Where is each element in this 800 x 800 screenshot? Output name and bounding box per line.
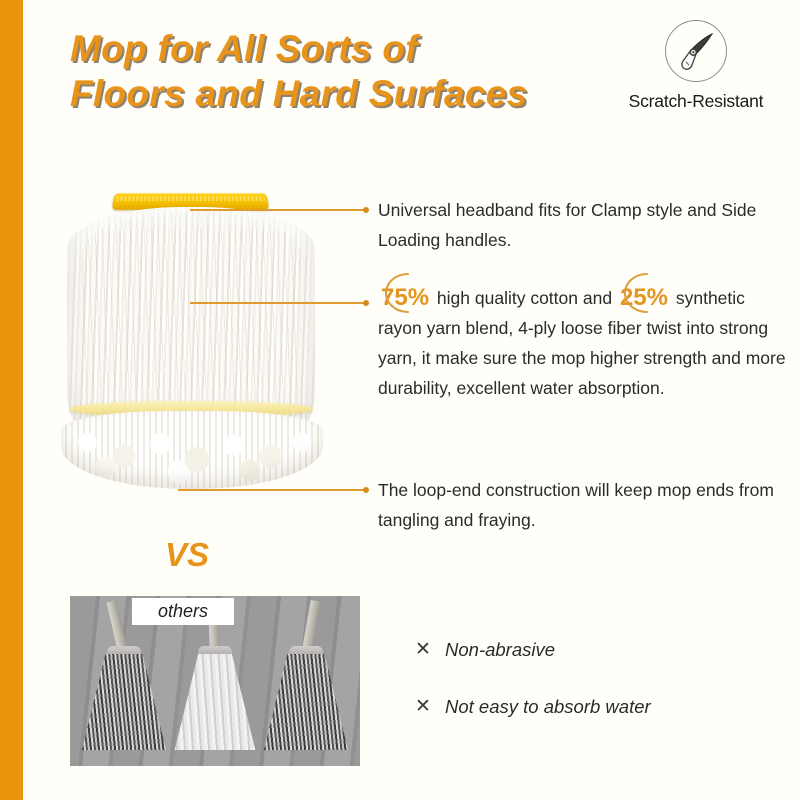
- product-image-mop-head: [45, 183, 355, 508]
- mop-head: [82, 654, 166, 750]
- feature-headband-text: Universal headband fits for Clamp style …: [378, 200, 756, 250]
- mop-loop-ends: [61, 411, 323, 489]
- title-line-1: Mop for All Sorts of: [70, 26, 590, 71]
- cross-icon: ✕: [415, 638, 445, 661]
- leader-line-headband: [190, 209, 366, 211]
- leader-line-loop-end: [178, 489, 366, 491]
- badge-label: Scratch-Resistant: [600, 91, 792, 112]
- competitor-mop-3: [264, 646, 348, 750]
- con-label: Non-abrasive: [445, 639, 555, 661]
- percentage-rayon: 25%: [617, 283, 671, 313]
- title-line-2: Floors and Hard Surfaces: [70, 71, 590, 116]
- cross-icon: ✕: [415, 695, 445, 718]
- con-label: Not easy to absorb water: [445, 696, 651, 718]
- feature-loop-end: The loop-end construction will keep mop …: [378, 475, 778, 535]
- feature-blend: 75% high quality cotton and 25% syntheti…: [378, 283, 788, 403]
- competitor-image-others: others: [70, 596, 360, 766]
- con-row: ✕ Not easy to absorb water: [415, 695, 785, 718]
- leader-line-blend: [190, 302, 366, 304]
- feature-headband: Universal headband fits for Clamp style …: [378, 195, 778, 255]
- left-accent-stripe: [0, 0, 23, 800]
- page-title: Mop for All Sorts of Floors and Hard Sur…: [70, 26, 590, 116]
- con-row: ✕ Non-abrasive: [415, 638, 785, 661]
- percentage-cotton-value: 75%: [381, 284, 429, 311]
- others-label: others: [132, 598, 234, 625]
- feature-blend-mid-text: high quality cotton and: [437, 288, 612, 308]
- mop-head: [173, 654, 257, 750]
- percentage-rayon-value: 25%: [620, 284, 668, 311]
- vs-label: VS: [165, 536, 209, 574]
- badge-circle: [665, 20, 727, 82]
- mop-head: [264, 654, 348, 750]
- percentage-cotton: 75%: [378, 283, 432, 313]
- competitor-cons-list: ✕ Non-abrasive ✕ Not easy to absorb wate…: [415, 638, 785, 752]
- feature-loop-end-text: The loop-end construction will keep mop …: [378, 480, 774, 530]
- competitor-mop-1: [82, 646, 166, 750]
- competitor-mop-2: [173, 646, 257, 750]
- scratch-resistant-badge: Scratch-Resistant: [600, 20, 792, 112]
